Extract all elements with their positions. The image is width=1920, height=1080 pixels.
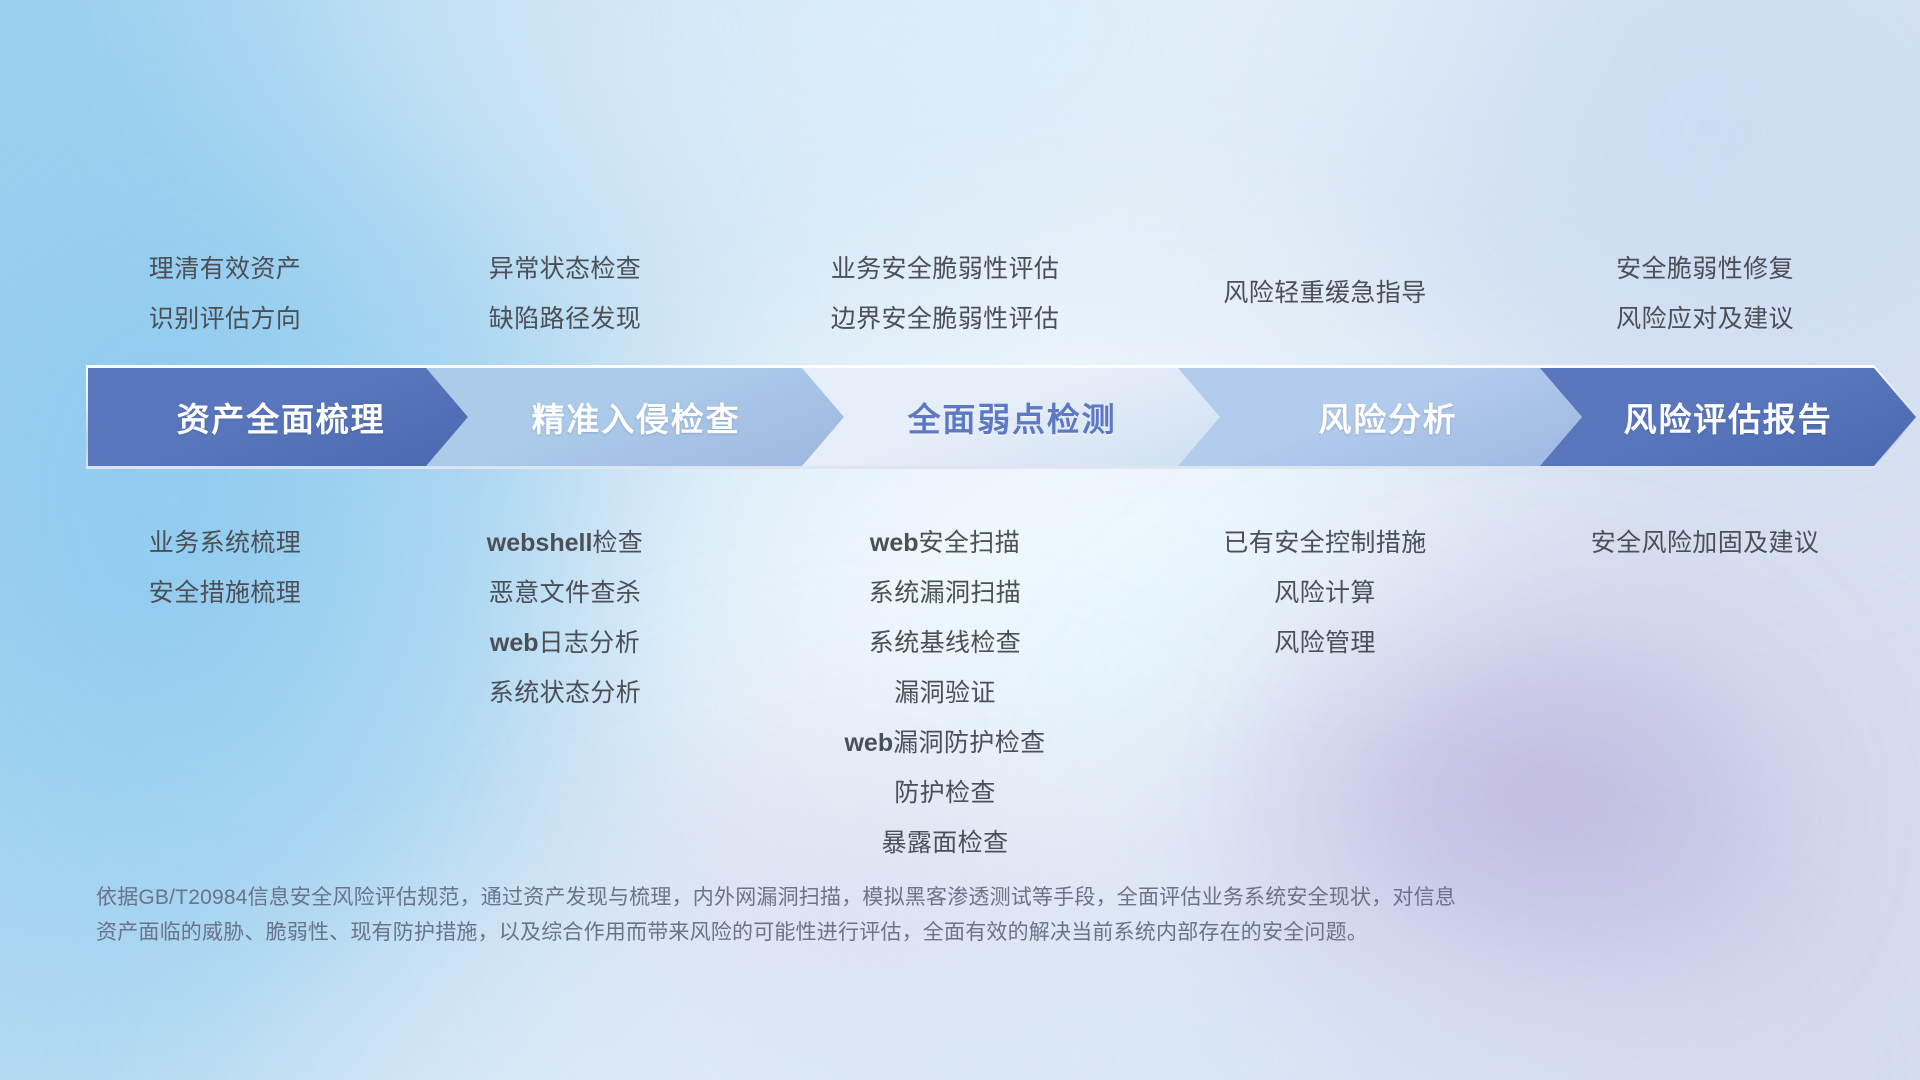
outcome-item: 安全脆弱性修复 [1505,244,1905,294]
activity-cjk-token: 漏洞防护检查 [893,729,1045,757]
process-stage-weakness-detection[interactable]: 全面弱点检测 [802,368,1222,466]
activity-cjk-token: 日志分析 [539,629,641,657]
activity-item: 暴露面检查 [745,818,1145,868]
process-diagram: 理清有效资产识别评估方向 异常状态检查缺陷路径发现 业务安全脆弱性评估边界安全脆… [0,0,1920,1080]
stage-label-assessment-report: 风险评估报告 [1624,393,1833,441]
activity-item: 安全风险加固及建议 [1505,518,1905,568]
stage-label-asset-inventory: 资产全面梳理 [177,393,386,441]
stage-activities-assessment-report: 安全风险加固及建议 [1505,518,1905,568]
activity-item: 漏洞验证 [745,668,1145,718]
activity-item: 安全措施梳理 [60,568,390,618]
activity-latin-token: web [844,729,893,757]
outcome-item: 识别评估方向 [60,294,390,344]
outcome-item: 风险轻重缓急指导 [1160,268,1490,318]
activity-item: 风险管理 [1160,618,1490,668]
stage-outcomes-weakness-detection: 业务安全脆弱性评估边界安全脆弱性评估 [745,244,1145,344]
footer-paragraph: 依据GB/T20984信息安全风险评估规范，通过资产发现与梳理，内外网漏洞扫描，… [96,880,1736,950]
footer-description: 依据GB/T20984信息安全风险评估规范，通过资产发现与梳理，内外网漏洞扫描，… [96,880,1736,950]
stage-activities-weakness-detection: web安全扫描系统漏洞扫描系统基线检查漏洞验证web漏洞防护检查防护检查暴露面检… [745,518,1145,868]
outcome-item: 理清有效资产 [60,244,390,294]
stage-outcomes-asset-inventory: 理清有效资产识别评估方向 [60,244,390,344]
activity-item: web漏洞防护检查 [745,718,1145,768]
process-stage-asset-inventory[interactable]: 资产全面梳理 [88,368,474,466]
outcome-item: 边界安全脆弱性评估 [745,294,1145,344]
outcome-item: 缺陷路径发现 [400,294,730,344]
activity-item: 系统漏洞扫描 [745,568,1145,618]
stage-outcomes-risk-analysis: 风险轻重缓急指导 [1160,268,1490,318]
stage-label-risk-analysis: 风险分析 [1318,393,1457,441]
stage-activities-risk-analysis: 已有安全控制措施风险计算风险管理 [1160,518,1490,668]
process-stage-risk-analysis[interactable]: 风险分析 [1178,368,1598,466]
stage-outcomes-assessment-report: 安全脆弱性修复风险应对及建议 [1505,244,1905,344]
activity-cjk-token: 安全扫描 [919,529,1021,557]
stage-label-weakness-detection: 全面弱点检测 [908,393,1117,441]
activity-item: 业务系统梳理 [60,518,390,568]
activity-item: 防护检查 [745,768,1145,818]
activity-item: web日志分析 [400,618,730,668]
activity-item: webshell检查 [400,518,730,568]
stage-activities-asset-inventory: 业务系统梳理安全措施梳理 [60,518,390,618]
activity-item: web安全扫描 [745,518,1145,568]
activity-latin-token: web [870,529,919,557]
activity-item: 恶意文件查杀 [400,568,730,618]
activity-item: 风险计算 [1160,568,1490,618]
stage-activities-intrusion-inspection: webshell检查恶意文件查杀web日志分析系统状态分析 [400,518,730,718]
outcome-item: 异常状态检查 [400,244,730,294]
activity-cjk-token: 检查 [592,529,643,557]
process-stage-intrusion-inspection[interactable]: 精准入侵检查 [426,368,846,466]
activity-latin-token: webshell [487,529,593,557]
process-stage-assessment-report[interactable]: 风险评估报告 [1540,368,1916,466]
process-chevron-banner: 资产全面梳理精准入侵检查全面弱点检测风险分析风险评估报告 [88,368,1916,466]
activity-item: 系统基线检查 [745,618,1145,668]
activity-latin-token: web [490,629,539,657]
outcome-item: 业务安全脆弱性评估 [745,244,1145,294]
stage-outcomes-intrusion-inspection: 异常状态检查缺陷路径发现 [400,244,730,344]
activity-item: 系统状态分析 [400,668,730,718]
outcome-item: 风险应对及建议 [1505,294,1905,344]
activity-item: 已有安全控制措施 [1160,518,1490,568]
stage-label-intrusion-inspection: 精准入侵检查 [532,393,741,441]
